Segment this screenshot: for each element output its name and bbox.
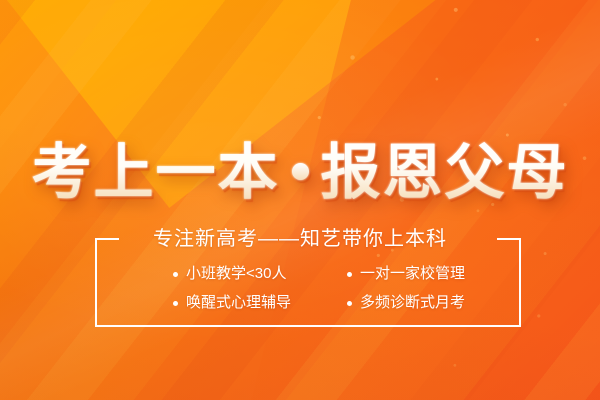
subtitle: 专注新高考——知艺带你上本科 [0, 227, 600, 251]
feature-label: 唤醒式心理辅导 [186, 291, 291, 315]
feature-item: 唤醒式心理辅导 [173, 291, 347, 315]
headline-right-text: 报恩父母 [321, 139, 569, 206]
frame-bottom-edge [95, 325, 521, 327]
bullet-icon [173, 301, 178, 306]
feature-label: 小班教学<30人 [186, 262, 286, 286]
promo-banner: 考上一本报恩父母 专注新高考——知艺带你上本科 小班教学<30人 一对一家校管理… [0, 0, 600, 400]
headline: 考上一本报恩父母 [0, 136, 600, 210]
dot-separator-icon [292, 163, 309, 180]
feature-item: 多频诊断式月考 [347, 291, 521, 315]
feature-item: 小班教学<30人 [173, 262, 347, 286]
feature-item: 一对一家校管理 [347, 262, 521, 286]
feature-label: 一对一家校管理 [360, 262, 465, 286]
bullet-icon [347, 301, 352, 306]
feature-label: 多频诊断式月考 [360, 291, 465, 315]
banner-content: 考上一本报恩父母 专注新高考——知艺带你上本科 小班教学<30人 一对一家校管理… [0, 0, 600, 400]
feature-list: 小班教学<30人 一对一家校管理 唤醒式心理辅导 多频诊断式月考 [95, 262, 521, 315]
bullet-icon [347, 272, 352, 277]
headline-left-text: 考上一本 [32, 139, 280, 206]
bullet-icon [173, 272, 178, 277]
